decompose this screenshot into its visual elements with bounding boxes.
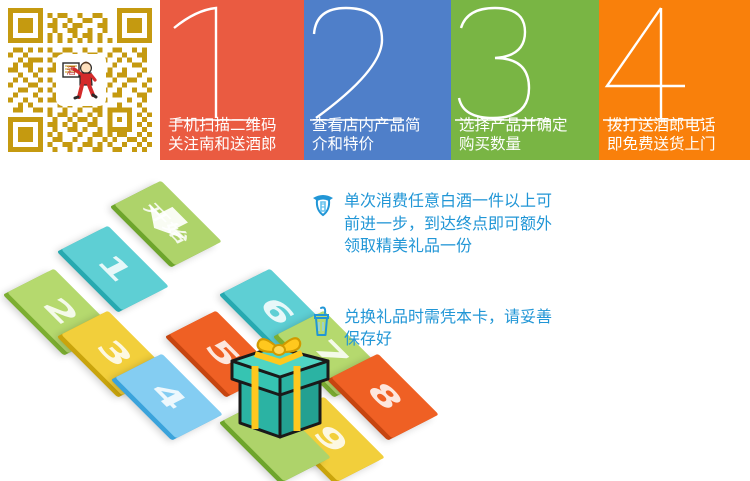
step-1-caption: 手机扫描二维码关注南和送酒郎 [168,116,300,154]
step-2-caption: 查看店内产品简介和特价 [312,116,447,154]
note-item-1: 单次消费任意白酒一件以上可 前进一步，到达终点即可额外 领取精美礼品一份 [310,190,740,258]
note-item-2: 兑换礼品时需凭本卡，请妥善 保存好 [310,306,740,351]
note-1-text: 单次消费任意白酒一件以上可 前进一步，到达终点即可额外 领取精美礼品一份 [344,190,552,258]
drink-cup-icon [310,306,340,340]
step-panel-2: 查看店内产品简介和特价 [304,0,451,160]
qr-center-logo: 酒 [56,54,106,106]
wine-bottle-icon [310,190,340,224]
delivery-man-icon: 酒 [60,58,102,102]
step-4-caption: 拨打送酒郎电话即免费送货上门 [607,116,746,154]
step-panel-4: 拨打送酒郎电话即免费送货上门 [599,0,750,160]
step-panel-3: 选择产品并确定购买数量 [451,0,599,160]
notes-panel: 单次消费任意白酒一件以上可 前进一步，到达终点即可额外 领取精美礼品一份 兑换礼… [310,190,740,399]
step-3-caption: 选择产品并确定购买数量 [459,116,595,154]
header-steps-strip: 酒 手机扫描二维码关注南和送酒郎 [0,0,750,160]
qr-code-block[interactable]: 酒 [0,0,160,160]
step-panel-1: 手机扫描二维码关注南和送酒郎 [160,0,304,160]
note-2-text: 兑换礼品时需凭本卡，请妥善 保存好 [344,306,552,351]
